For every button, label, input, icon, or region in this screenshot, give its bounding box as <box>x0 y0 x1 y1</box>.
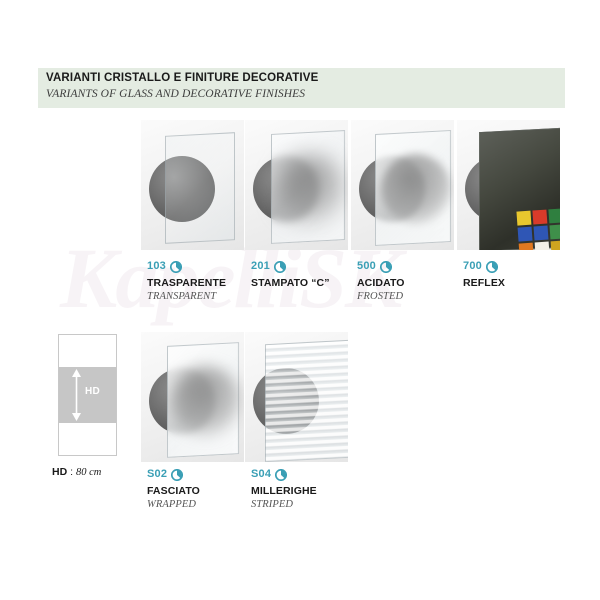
sample-card-500[interactable] <box>351 120 454 250</box>
hd-double-arrow-icon <box>71 369 82 421</box>
glass-sphere-icon <box>380 260 392 272</box>
code-row: 700 <box>463 258 505 273</box>
glass-sphere-icon <box>275 468 287 480</box>
section-header: VARIANTI CRISTALLO E FINITURE DECORATIVE… <box>38 68 565 108</box>
sample-photo-fasciato <box>141 332 244 462</box>
glass-sphere-icon <box>274 260 286 272</box>
sample-code: 201 <box>251 260 270 272</box>
diffused-sphere <box>171 366 241 436</box>
glass-sphere-icon <box>486 260 498 272</box>
sample-photo-reflex <box>457 120 560 250</box>
caption-S04: S04 MILLERIGHE STRIPED <box>251 466 317 510</box>
hd-label: HD <box>85 386 100 397</box>
diffused-sphere <box>275 154 345 224</box>
sample-name-it: TRASPARENTE <box>147 277 226 289</box>
hd-caption: HD : 80 cm <box>52 466 101 478</box>
hd-caption-separator: : <box>67 466 76 478</box>
caption-103: 103 TRASPARENTE TRANSPARENT <box>147 258 226 302</box>
caption-S02: S02 FASCIATO WRAPPED <box>147 466 200 510</box>
sample-name-it: ACIDATO <box>357 277 405 289</box>
sample-name-en: FROSTED <box>357 291 405 302</box>
color-swatch <box>535 241 550 250</box>
sample-name-en: STRIPED <box>251 499 317 510</box>
sample-code: 500 <box>357 260 376 272</box>
sample-card-201[interactable] <box>245 120 348 250</box>
color-swatch <box>532 210 547 225</box>
code-row: 201 <box>251 258 330 273</box>
hd-caption-key: HD <box>52 466 67 478</box>
sample-code: 103 <box>147 260 166 272</box>
sample-name-en: WRAPPED <box>147 499 200 510</box>
color-swatch <box>519 243 534 250</box>
sample-code: S04 <box>251 468 271 480</box>
sample-name-it: STAMPATO “C” <box>251 277 330 289</box>
hd-dimension-diagram: HD <box>58 334 117 456</box>
caption-500: 500 ACIDATO FROSTED <box>357 258 405 302</box>
code-row: S02 <box>147 466 200 481</box>
sample-photo-millerighe <box>245 332 348 462</box>
glass-sphere-icon <box>171 468 183 480</box>
glass-finishes-page: KapelliSK VARIANTI CRISTALLO E FINITURE … <box>0 0 600 600</box>
color-swatch <box>551 240 560 250</box>
sample-name-en: TRANSPARENT <box>147 291 226 302</box>
sample-photo-transparent <box>141 120 244 250</box>
color-swatch <box>549 224 560 239</box>
color-swatch <box>534 226 549 241</box>
sample-name-it: FASCIATO <box>147 485 200 497</box>
caption-700: 700 REFLEX <box>463 258 505 291</box>
glass-pane-striped <box>265 340 348 462</box>
code-row: 500 <box>357 258 405 273</box>
sample-name-it: REFLEX <box>463 277 505 289</box>
diffused-sphere <box>381 154 451 224</box>
page-title: VARIANTI CRISTALLO E FINITURE DECORATIVE <box>46 72 318 84</box>
sample-card-700[interactable] <box>457 120 560 250</box>
glass-sphere-icon <box>170 260 182 272</box>
sample-card-S04[interactable] <box>245 332 348 462</box>
color-swatch <box>548 208 560 223</box>
hd-caption-value: 80 cm <box>76 467 101 478</box>
sample-name-it: MILLERIGHE <box>251 485 317 497</box>
color-swatch <box>516 211 531 226</box>
sample-photo-acidato <box>351 120 454 250</box>
sample-photo-stampato <box>245 120 348 250</box>
sample-card-S02[interactable] <box>141 332 244 462</box>
page-subtitle: VARIANTS OF GLASS AND DECORATIVE FINISHE… <box>46 88 305 100</box>
sample-code: 700 <box>463 260 482 272</box>
caption-201: 201 STAMPATO “C” <box>251 258 330 291</box>
code-row: 103 <box>147 258 226 273</box>
sample-code: S02 <box>147 468 167 480</box>
glass-pane-clear <box>165 132 235 244</box>
color-reference-chart <box>516 208 560 250</box>
sample-card-103[interactable] <box>141 120 244 250</box>
code-row: S04 <box>251 466 317 481</box>
color-swatch <box>518 227 533 242</box>
